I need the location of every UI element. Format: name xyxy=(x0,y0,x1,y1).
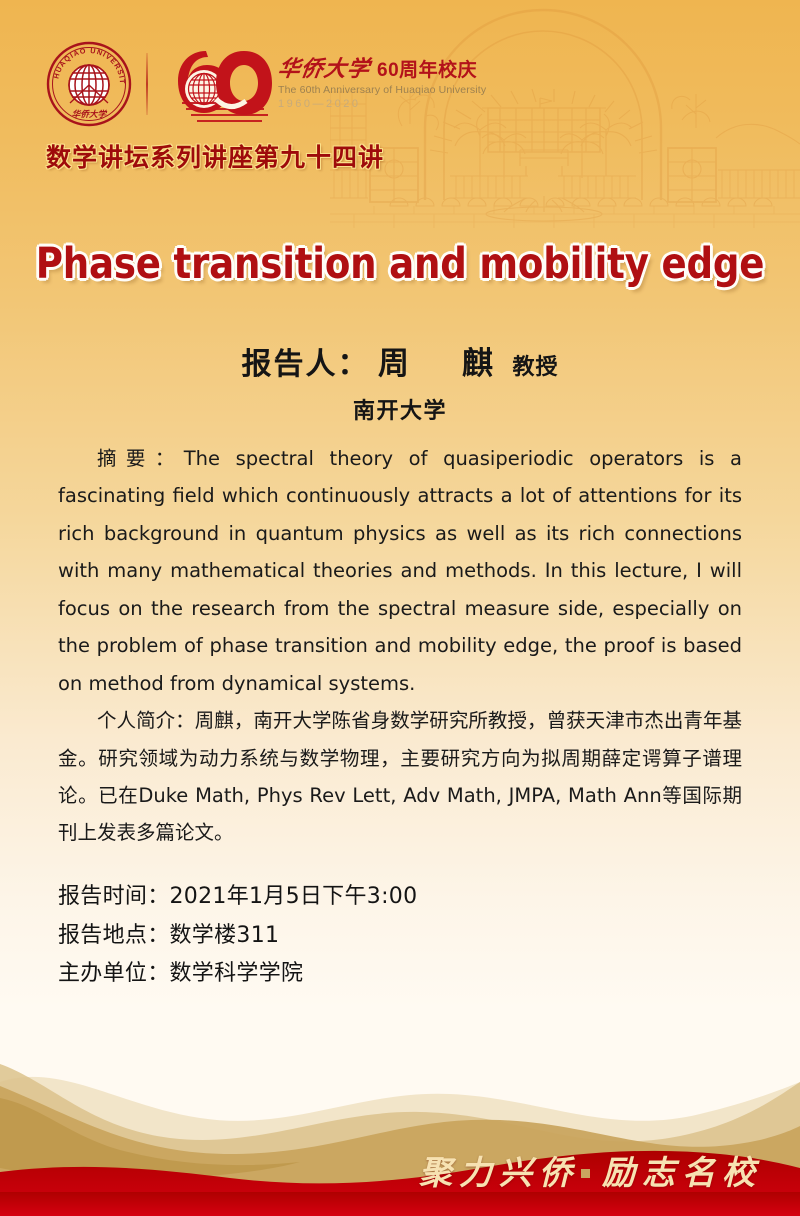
biography-paragraph: 个人简介：周麒，南开大学陈省身数学研究所教授，曾获天津市杰出青年基金。研究领域为… xyxy=(58,702,742,852)
speaker-rank: 教授 xyxy=(512,354,558,379)
logo-divider xyxy=(146,53,148,115)
sixty-anniversary-globe-wave-icon xyxy=(164,41,274,127)
speaker-label: 报告人： xyxy=(242,348,370,381)
speaker-name: 周 麒 xyxy=(378,346,504,381)
abstract-paragraph: 摘要：The spectral theory of quasiperiodic … xyxy=(58,440,742,702)
detail-location: 报告地点：数学楼311 xyxy=(58,917,758,956)
anniversary-cn-suffix: 60周年校庆 xyxy=(377,61,477,80)
globe-grid-seal-icon: HUAQIAO UNIVERSITY 华侨大学 xyxy=(46,41,132,127)
anniversary-cn-name: 华侨大学 xyxy=(276,58,371,80)
header-logo-row: HUAQIAO UNIVERSITY 华侨大学 xyxy=(46,36,486,132)
anniversary-text-block: 华侨大学 60周年校庆 The 60th Anniversary of Huaq… xyxy=(278,58,486,111)
slogan-left: 聚力兴侨 xyxy=(419,1146,579,1194)
speaker-affiliation: 南开大学 xyxy=(0,393,800,425)
footer-decoration: 聚力兴侨 励志名校 xyxy=(0,986,800,1216)
footer-slogan: 聚力兴侨 励志名校 xyxy=(419,1146,762,1194)
speaker-line: 报告人： 周 麒 教授 xyxy=(0,338,800,383)
anniversary-en-text: The 60th Anniversary of Huaqiao Universi… xyxy=(278,85,486,96)
svg-text:华侨大学: 华侨大学 xyxy=(72,109,108,120)
slogan-separator-icon xyxy=(581,1169,590,1178)
page-title: Phase transition and mobility edge xyxy=(16,240,784,289)
anniversary-years: 1960—2020 xyxy=(278,99,486,110)
detail-time: 报告时间：2021年1月5日下午3:00 xyxy=(58,878,758,917)
slogan-right: 励志名校 xyxy=(602,1146,762,1194)
body-text: 摘要：The spectral theory of quasiperiodic … xyxy=(58,440,742,852)
event-details: 报告时间：2021年1月5日下午3:00 报告地点：数学楼311 主办单位：数学… xyxy=(58,878,758,994)
series-title: 数学讲坛系列讲座第九十四讲 xyxy=(46,138,384,174)
poster-canvas: HUAQIAO UNIVERSITY 华侨大学 xyxy=(0,0,800,1216)
